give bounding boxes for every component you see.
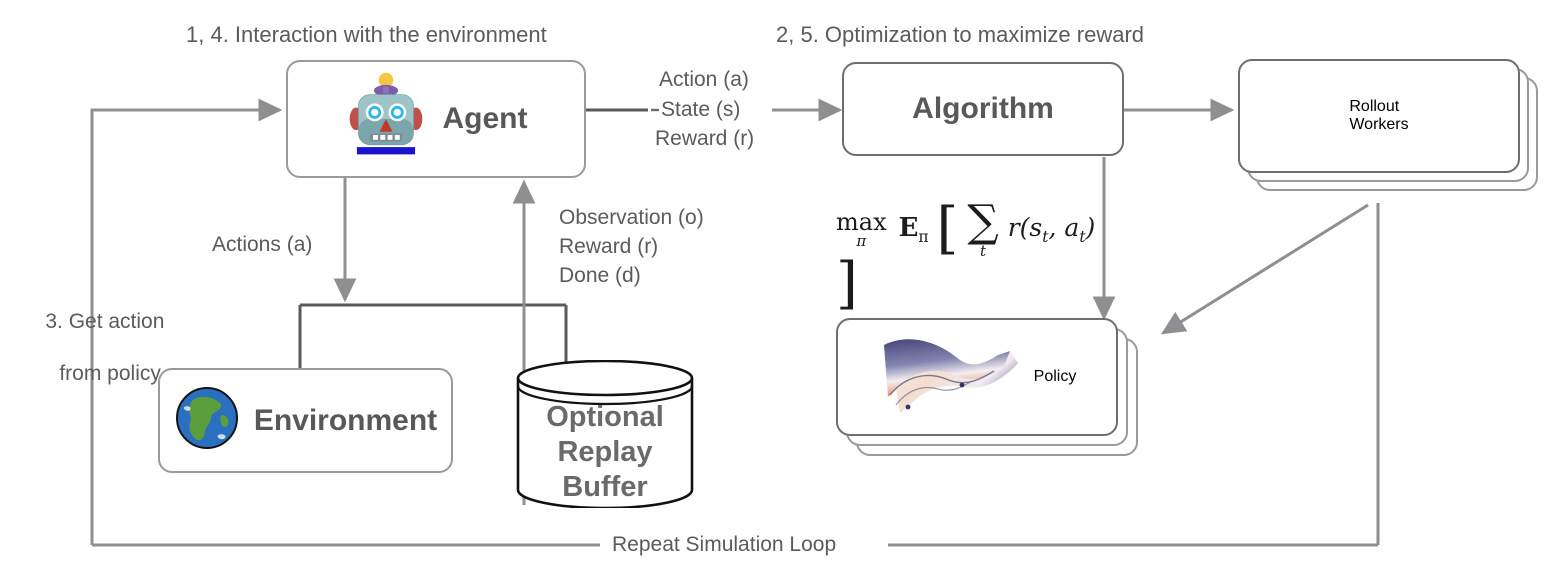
formula-reward-term: r(st, at) — [1008, 213, 1096, 246]
formula-bracket-open: [ — [937, 204, 959, 254]
replay-buffer-line1: Optional — [546, 401, 664, 433]
formula-max-op: max — [836, 210, 887, 234]
globe-earth-icon — [174, 385, 240, 456]
node-policy[interactable]: Policy — [836, 318, 1156, 458]
formula-max-sub: π — [836, 234, 887, 249]
edge-label-get-action: 3. Get action from policy — [22, 283, 164, 413]
node-rollout-workers-label: Rollout Workers — [1349, 98, 1408, 134]
node-algorithm[interactable]: Algorithm — [842, 62, 1124, 156]
node-replay-buffer[interactable]: Optional Replay Buffer — [514, 360, 696, 508]
formula-sum-symbol: ∑ — [967, 196, 998, 247]
objective-formula: max π Eπ [ ∑ t r(st, at) ] — [836, 200, 1096, 270]
replay-buffer-line3: Buffer — [562, 471, 647, 503]
rollout-workers-label-line1: Rollout — [1349, 98, 1399, 115]
loss-landscape-icon — [878, 327, 1028, 428]
node-environment-label: Environment — [254, 404, 437, 438]
edge-label-action: Action (a) — [659, 67, 749, 93]
node-agent-label: Agent — [443, 102, 528, 136]
edge-label-repeat-loop: Repeat Simulation Loop — [612, 532, 836, 558]
rollout-workers-stack-layer-1[interactable]: Rollout Workers — [1238, 59, 1520, 173]
formula-expectation: Eπ — [899, 213, 929, 246]
formula-bracket-close: ] — [836, 259, 858, 309]
node-policy-label: Policy — [1034, 368, 1077, 386]
edge-label-env-reward: Reward (r) — [559, 234, 658, 260]
section-title-left: 1, 4. Interaction with the environment — [186, 22, 547, 48]
edge-label-state: State (s) — [661, 97, 740, 123]
edge-label-observation: Observation (o) — [559, 205, 704, 231]
formula-r-mid: , a — [1049, 213, 1080, 242]
formula-expectation-symbol: E — [899, 213, 919, 243]
rollout-workers-label-line2: Workers — [1349, 116, 1408, 133]
formula-r-open: r(s — [1008, 213, 1043, 242]
node-environment[interactable]: Environment — [158, 368, 453, 473]
edge-label-actions: Actions (a) — [212, 232, 312, 258]
policy-stack-layer-1[interactable]: Policy — [836, 318, 1118, 436]
formula-sum: ∑ t — [967, 200, 998, 259]
get-action-line2: from policy — [59, 361, 161, 387]
replay-buffer-line2: Replay — [557, 436, 652, 468]
formula-max: max π — [836, 210, 887, 249]
node-algorithm-label: Algorithm — [912, 92, 1054, 126]
node-rollout-workers[interactable]: Rollout Workers — [1238, 59, 1538, 191]
formula-expectation-sub: π — [918, 228, 928, 246]
node-replay-buffer-label: Optional Replay Buffer — [514, 400, 696, 505]
diagram-canvas: 1, 4. Interaction with the environment 2… — [0, 0, 1556, 572]
node-agent[interactable]: Agent — [286, 60, 586, 178]
get-action-line1: 3. Get action — [45, 310, 164, 333]
edge-label-reward: Reward (r) — [655, 126, 754, 152]
edge-label-done: Done (d) — [559, 263, 641, 289]
formula-r-close: ) — [1086, 213, 1096, 242]
robot-face-icon — [345, 72, 427, 167]
section-title-right: 2, 5. Optimization to maximize reward — [776, 22, 1144, 48]
